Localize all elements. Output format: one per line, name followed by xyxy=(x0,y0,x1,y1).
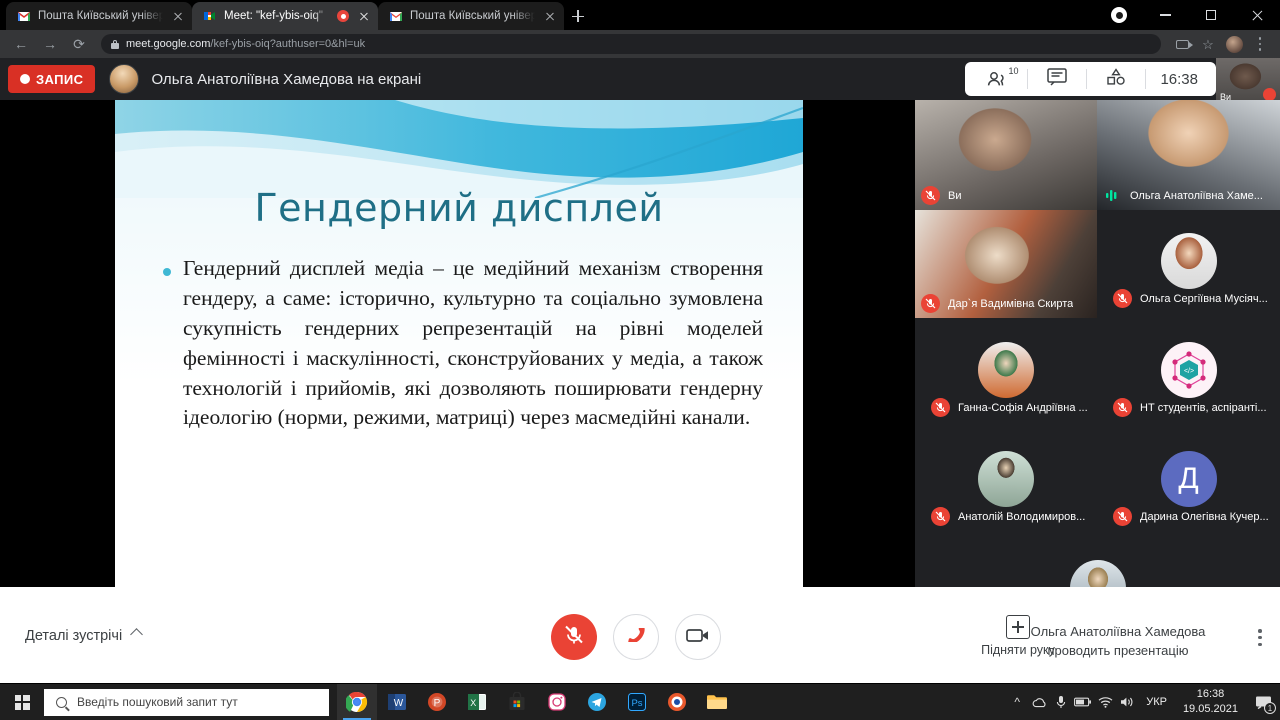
avatar-initial: Д xyxy=(1161,451,1217,507)
taskbar-clock[interactable]: 16:38 19.05.2021 xyxy=(1175,687,1246,717)
participant-tile-7[interactable]: Д Дарина Олегівна Кучер... xyxy=(1097,427,1280,536)
mic-muted-icon xyxy=(1113,289,1132,308)
people-icon: 10 xyxy=(987,71,1009,87)
tab-close-icon[interactable] xyxy=(356,8,372,24)
language-indicator[interactable]: УКР xyxy=(1138,696,1175,708)
taskbar-app-photoshop[interactable]: Ps xyxy=(617,684,657,720)
minimize-button[interactable] xyxy=(1142,0,1188,30)
meeting-details-label: Деталі зустрічі xyxy=(25,628,122,644)
taskbar-app-chrome[interactable] xyxy=(337,684,377,720)
gmail-icon xyxy=(16,9,31,24)
search-placeholder: Введіть пошуковий запит тут xyxy=(77,695,238,709)
back-icon[interactable]: ← xyxy=(8,31,34,57)
participant-nameline: Дарина Олегівна Кучер... xyxy=(1097,507,1280,526)
toolbar-actions: ☆ xyxy=(1170,32,1272,56)
presenter-avatar xyxy=(109,64,139,94)
participant-name: Дарина Олегівна Кучер... xyxy=(1140,511,1269,523)
start-button[interactable] xyxy=(0,684,44,720)
svg-text:P: P xyxy=(434,698,441,709)
participant-name: Ганна-Софія Андріївна ... xyxy=(958,402,1088,414)
presenting-text: проводить презентацію xyxy=(1008,642,1228,661)
lock-icon xyxy=(111,40,119,49)
taskbar-app-excel[interactable]: X xyxy=(457,684,497,720)
presenter-banner-text: Ольга Анатоліївна Хамедова на екрані xyxy=(151,71,421,88)
windows-taskbar: Введіть пошуковий запит тут W P X xyxy=(0,684,1280,720)
volume-icon[interactable] xyxy=(1116,684,1138,720)
taskbar-app-store[interactable] xyxy=(497,684,537,720)
chat-button[interactable] xyxy=(1028,62,1086,96)
record-dot-icon xyxy=(20,74,30,84)
telegram-icon xyxy=(587,692,607,712)
presenting-name: Ольга Анатоліївна Хамедова xyxy=(1008,623,1228,642)
participant-nameline: Ви xyxy=(921,186,1093,205)
browser-tab-3[interactable]: Пошта Київський університет і... xyxy=(378,2,564,30)
tab-close-icon[interactable] xyxy=(170,8,186,24)
avatar xyxy=(1161,233,1217,289)
taskbar-app-instagram[interactable] xyxy=(537,684,577,720)
participant-tile-4[interactable]: Ганна-Софія Андріївна ... xyxy=(915,318,1097,427)
participant-tile-2[interactable]: Дар`я Вадимівна Скирта xyxy=(915,210,1097,318)
mic-muted-icon xyxy=(1113,507,1132,526)
avatar xyxy=(978,451,1034,507)
forward-icon[interactable]: → xyxy=(37,31,63,57)
mic-muted-icon xyxy=(931,507,950,526)
mic-muted-icon xyxy=(921,294,940,313)
participants-button[interactable]: 10 xyxy=(969,62,1027,96)
camera-toggle-button[interactable] xyxy=(675,614,721,660)
slide-decorative-wave xyxy=(115,100,803,198)
participant-nameline: Ганна-Софія Андріївна ... xyxy=(915,398,1097,417)
avatar xyxy=(978,342,1034,398)
participant-name: Анатолій Володимиров... xyxy=(958,511,1085,523)
avatar: </> xyxy=(1161,342,1217,398)
participant-tile-5[interactable]: </> НТ студентів, аспіранті... xyxy=(1097,318,1280,427)
tab-title: Meet: "kef-ybis-oiq" xyxy=(224,10,330,22)
clock-time: 16:38 xyxy=(1183,687,1238,702)
excel-icon: X xyxy=(467,692,487,712)
window-controls xyxy=(1096,0,1280,30)
new-tab-button[interactable] xyxy=(564,2,592,30)
profile-avatar[interactable] xyxy=(1222,32,1246,56)
mic-toggle-button[interactable] xyxy=(551,614,597,660)
activities-button[interactable] xyxy=(1087,62,1145,96)
mic-muted-icon xyxy=(931,398,950,417)
participant-name: Ольга Сергіївна Мусіяч... xyxy=(1140,293,1268,305)
svg-text:X: X xyxy=(470,698,476,708)
shared-slide: Гендерний дисплей Гендерний дисплей меді… xyxy=(115,100,803,615)
screen: Пошта Київський університет і... Meet: "… xyxy=(0,0,1280,720)
windows-logo-icon xyxy=(15,695,30,710)
avatar-initial-letter: Д xyxy=(1178,462,1198,496)
close-window-button[interactable] xyxy=(1234,0,1280,30)
microphone-off-icon xyxy=(563,624,585,651)
presentation-stage[interactable]: Гендерний дисплей Гендерний дисплей меді… xyxy=(0,100,915,645)
media-player-icon xyxy=(667,692,687,712)
speaking-indicator-icon xyxy=(1103,186,1122,205)
participant-name: Ольга Анатоліївна Хаме... xyxy=(1130,190,1263,202)
participant-tile-3[interactable]: Ольга Сергіївна Мусіяч... xyxy=(1097,210,1280,318)
tab-title: Пошта Київський університет і... xyxy=(410,10,535,22)
powerpoint-icon: P xyxy=(427,692,447,712)
camera-icon xyxy=(686,627,710,648)
activities-icon xyxy=(1106,68,1126,91)
slide-bullet: Гендерний дисплей медіа – це медійний ме… xyxy=(163,254,763,433)
slide-title: Гендерний дисплей xyxy=(115,186,803,230)
self-view-tile-top[interactable]: Ви xyxy=(1216,58,1280,104)
bullet-dot-icon xyxy=(163,268,171,276)
taskbar-app-media-player[interactable] xyxy=(657,684,697,720)
wifi-icon[interactable] xyxy=(1094,684,1116,720)
end-call-button[interactable] xyxy=(613,614,659,660)
meeting-details-button[interactable]: Деталі зустрічі xyxy=(25,628,141,644)
microsoft-store-icon xyxy=(507,692,527,712)
word-icon: W xyxy=(387,692,407,712)
meet-icon xyxy=(202,9,217,24)
svg-text:Ps: Ps xyxy=(631,698,642,709)
address-bar[interactable]: meet.google.com/kef-ybis-oiq?authuser=0&… xyxy=(101,34,1161,54)
participant-tile-0[interactable]: Ви xyxy=(915,100,1097,210)
chevron-up-icon xyxy=(130,628,143,641)
participant-tile-6[interactable]: Анатолій Володимиров... xyxy=(915,427,1097,536)
participant-nameline: Ольга Анатоліївна Хаме... xyxy=(1103,186,1276,205)
participant-grid: Ви Ольга Анатоліївна Хаме... xyxy=(915,100,1280,645)
browser-tab-1[interactable]: Пошта Київський університет і... xyxy=(6,2,192,30)
tab-strip: Пошта Київський університет і... Meet: "… xyxy=(0,0,592,30)
browser-toolbar: ← → ⟳ meet.google.com/kef-ybis-oiq?authu… xyxy=(0,30,1280,58)
tab-recording-icon xyxy=(337,10,349,22)
browser-tab-2[interactable]: Meet: "kef-ybis-oiq" xyxy=(192,2,378,30)
camera-access-icon[interactable] xyxy=(1170,32,1194,56)
participant-name: Ви xyxy=(948,190,961,202)
taskbar-app-word[interactable]: W xyxy=(377,684,417,720)
microphone-icon[interactable] xyxy=(1050,684,1072,720)
url-text: meet.google.com/kef-ybis-oiq?authuser=0&… xyxy=(126,38,365,50)
participant-nameline: Дар`я Вадимівна Скирта xyxy=(921,294,1093,313)
browser-titlebar: Пошта Київський університет і... Meet: "… xyxy=(0,0,1280,30)
svg-text:</>: </> xyxy=(1183,368,1193,375)
chat-icon xyxy=(1047,68,1067,91)
taskbar-app-file-explorer[interactable] xyxy=(697,684,737,720)
participant-nameline: Анатолій Володимиров... xyxy=(915,507,1097,526)
participant-tile-1[interactable]: Ольга Анатоліївна Хаме... xyxy=(1097,100,1280,210)
reload-icon[interactable]: ⟳ xyxy=(66,31,92,57)
participant-name: Дар`я Вадимівна Скирта xyxy=(948,298,1073,310)
search-icon xyxy=(56,697,67,708)
recording-indicator-icon[interactable] xyxy=(1096,0,1142,30)
taskbar-search-box[interactable]: Введіть пошуковий запит тут xyxy=(44,689,329,716)
clock-date: 19.05.2021 xyxy=(1183,702,1238,717)
presenting-status: Ольга Анатоліївна Хамедова проводить пре… xyxy=(1008,623,1228,661)
participant-nameline: Ольга Сергіївна Мусіяч... xyxy=(1097,289,1280,308)
file-explorer-icon xyxy=(706,693,728,711)
taskbar-app-telegram[interactable] xyxy=(577,684,617,720)
battery-icon[interactable] xyxy=(1072,684,1094,720)
gmail-icon xyxy=(388,9,403,24)
meet-topbar-actions: 10 16:38 xyxy=(965,62,1216,96)
participant-nameline: НТ студентів, аспіранті... xyxy=(1097,398,1280,417)
bookmark-star-icon[interactable]: ☆ xyxy=(1196,32,1220,56)
chrome-menu-icon[interactable] xyxy=(1248,32,1272,56)
organization-logo-icon: </> xyxy=(1165,346,1213,394)
chrome-icon xyxy=(346,691,368,713)
photoshop-icon: Ps xyxy=(627,692,647,712)
notification-center-button[interactable]: 1 xyxy=(1246,684,1280,720)
recording-badge: ЗАПИС xyxy=(8,65,95,93)
mic-muted-icon xyxy=(921,186,940,205)
call-controls xyxy=(551,614,721,660)
meet-bottom-bar: Деталі зустрічі 🖐 Підня xyxy=(0,587,1280,683)
taskbar-app-powerpoint[interactable]: P xyxy=(417,684,457,720)
taskbar-apps: W P X Ps xyxy=(337,684,737,720)
svg-text:W: W xyxy=(394,698,404,709)
tab-title: Пошта Київський університет і... xyxy=(38,10,163,22)
slide-body-text: Гендерний дисплей медіа – це медійний ме… xyxy=(183,254,763,433)
notification-badge: 1 xyxy=(1264,702,1276,714)
maximize-button[interactable] xyxy=(1188,0,1234,30)
instagram-icon xyxy=(547,692,567,712)
participants-count: 10 xyxy=(1008,66,1018,76)
mic-muted-icon xyxy=(1113,398,1132,417)
end-call-icon xyxy=(624,628,648,647)
tab-close-icon[interactable] xyxy=(542,8,558,24)
more-options-icon[interactable] xyxy=(1258,629,1262,646)
onedrive-icon[interactable] xyxy=(1028,684,1050,720)
meeting-clock: 16:38 xyxy=(1146,71,1212,88)
chevron-up-icon[interactable]: ^ xyxy=(1006,684,1028,720)
participant-name: НТ студентів, аспіранті... xyxy=(1140,402,1267,414)
system-tray: ^ УКР 16:38 19.05.2021 1 xyxy=(1006,684,1280,720)
